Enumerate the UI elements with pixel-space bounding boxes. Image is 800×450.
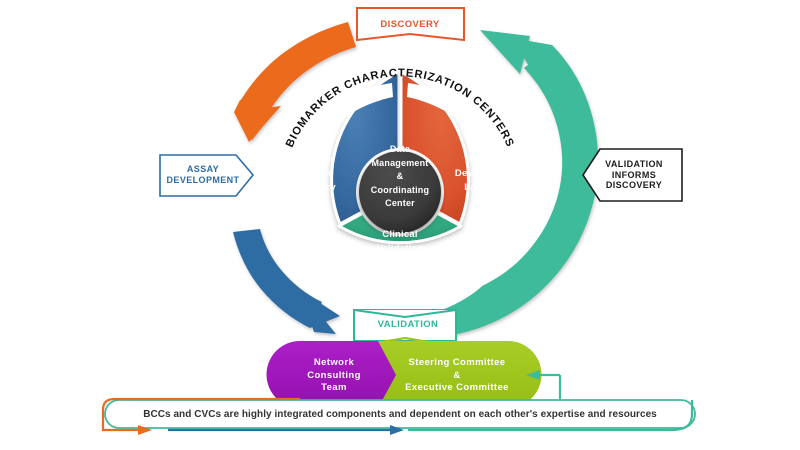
nct-line1: Network <box>307 357 361 370</box>
steering-executive-committee-label[interactable]: Steering Committee & Executive Committee <box>384 355 530 397</box>
hub-line5: Center <box>358 197 442 211</box>
nct-line3: Team <box>307 382 361 395</box>
validation-label[interactable]: VALIDATION <box>362 311 454 339</box>
segment-label-biomarker-developmental-laboratory[interactable]: Biomarker Developmental Laboratory <box>450 153 530 194</box>
cvc-line2: Validation <box>356 242 444 256</box>
sce-line2: & <box>405 370 509 383</box>
vid-label-line2: INFORMS <box>605 170 663 181</box>
brl-line1: Biomarker <box>272 153 348 167</box>
diagram-canvas: BIOMARKER CHARACTERIZATION CENTERS DISCO… <box>0 0 800 450</box>
assay-development-label-line2: DEVELOPMENT <box>167 175 240 186</box>
hub-line2: Management <box>358 157 442 171</box>
assay-development-label-line1: ASSAY <box>167 164 240 175</box>
validation-label-text: VALIDATION <box>378 319 439 330</box>
assay-development-label[interactable]: ASSAY DEVELOPMENT <box>164 157 242 193</box>
vid-label-line3: DISCOVERY <box>605 180 663 191</box>
network-consulting-team-label[interactable]: Network Consulting Team <box>292 357 376 395</box>
sce-line1: Steering Committee <box>405 357 509 370</box>
bdl-line3: Laboratory <box>450 181 530 195</box>
brl-line3: Laboratory <box>272 181 348 195</box>
validation-informs-discovery-label[interactable]: VALIDATION INFORMS DISCOVERY <box>592 152 676 198</box>
cvc-line1: Clinical <box>356 228 444 242</box>
hub-line1: Data <box>358 143 442 157</box>
brl-line2: Reference <box>272 167 348 181</box>
hub-label-data-management-coordinating-center[interactable]: Data Management & Coordinating Center <box>358 143 442 211</box>
segment-label-biomarker-reference-laboratory[interactable]: Biomarker Reference Laboratory <box>272 153 348 194</box>
footer-note-text: BCCs and CVCs are highly integrated comp… <box>143 409 657 420</box>
cvc-line3: Centers <box>356 256 444 270</box>
bdl-line1: Biomarker <box>450 153 530 167</box>
vid-label-line1: VALIDATION <box>605 159 663 170</box>
discovery-label-text: DISCOVERY <box>380 19 439 30</box>
hub-line3: & <box>358 170 442 184</box>
hub-line4: Coordinating <box>358 184 442 198</box>
segment-label-clinical-validation-centers[interactable]: Clinical Validation Centers <box>356 228 444 269</box>
sce-line3: Executive Committee <box>405 382 509 395</box>
bdl-line2: Developmental <box>450 167 530 181</box>
footer-note: BCCs and CVCs are highly integrated comp… <box>112 403 688 425</box>
discovery-label[interactable]: DISCOVERY <box>366 10 454 40</box>
nct-line2: Consulting <box>307 370 361 383</box>
